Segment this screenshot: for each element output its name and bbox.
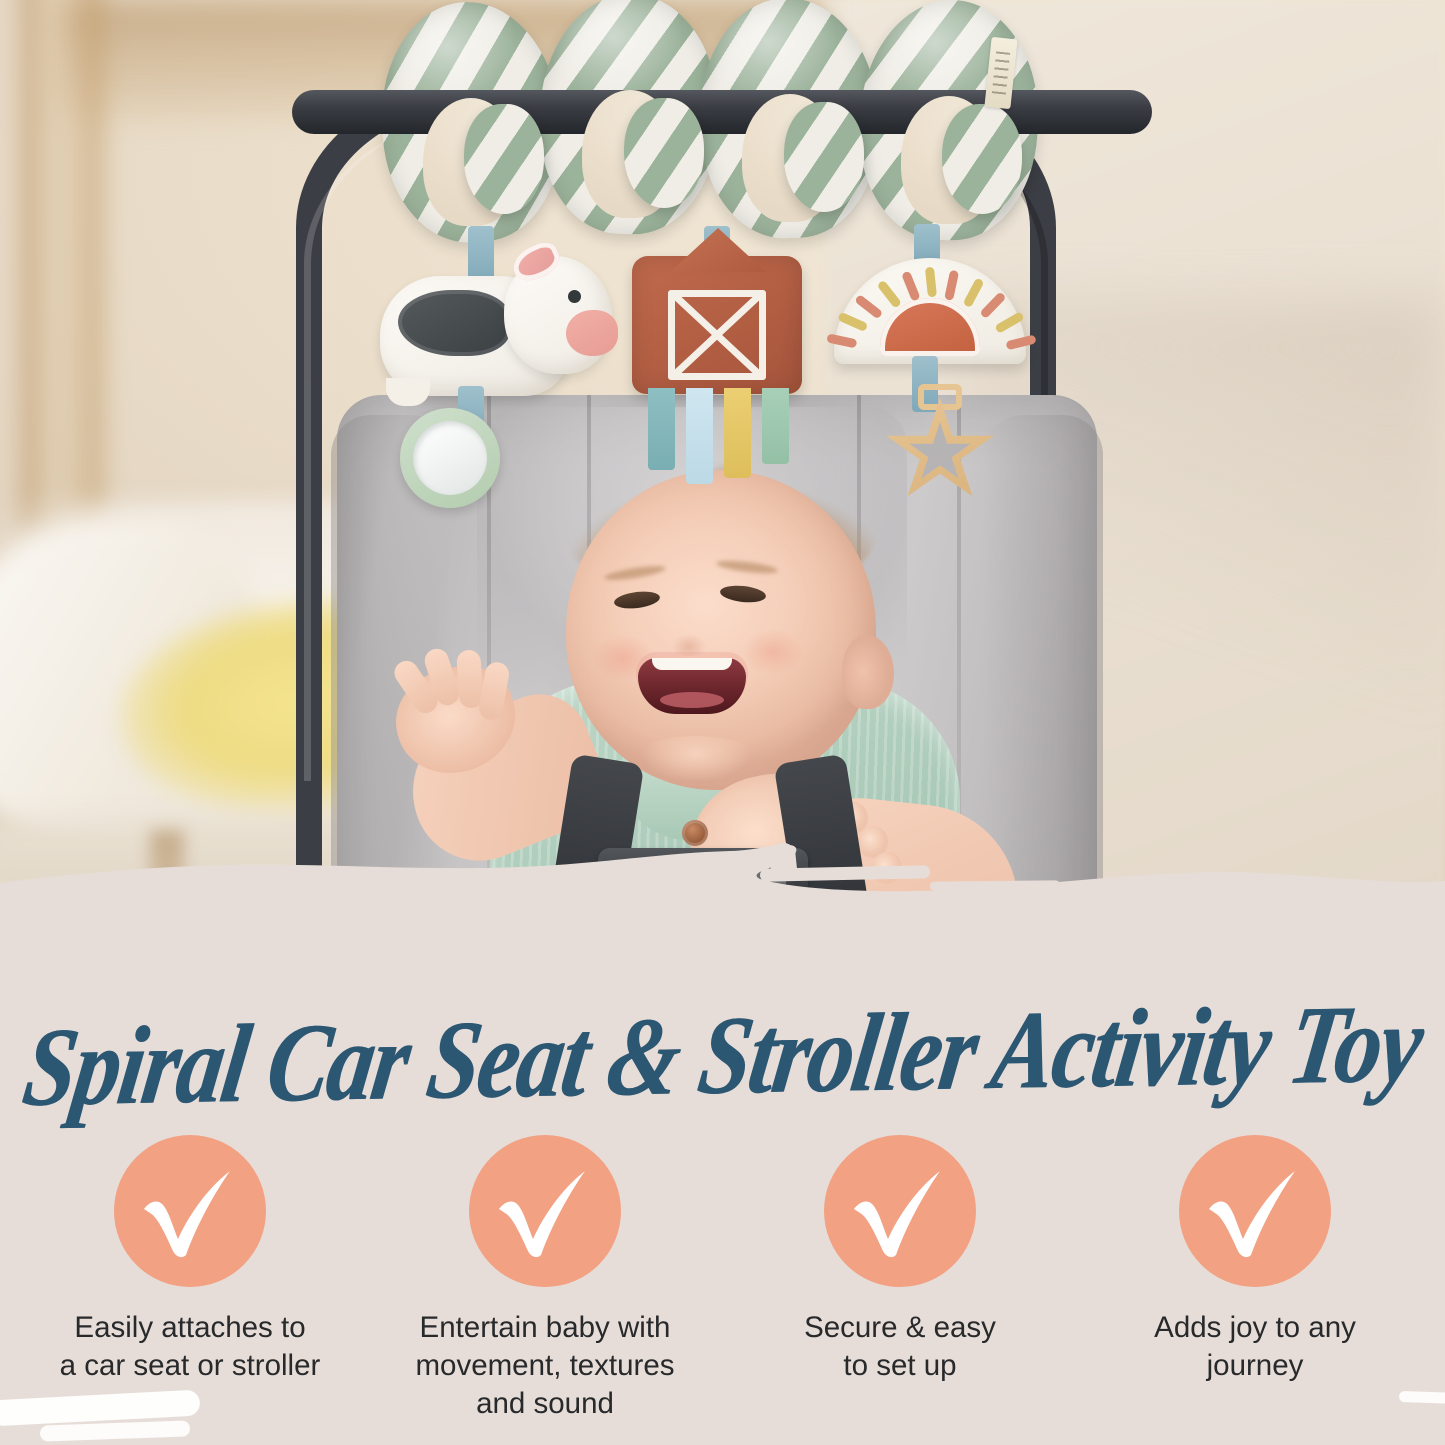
checkmark-icon xyxy=(1205,1165,1305,1259)
spiral-coil-front xyxy=(942,104,1022,214)
cow-snout xyxy=(566,310,618,356)
sun-ray xyxy=(925,267,937,298)
sun-ray xyxy=(876,280,902,309)
baby-nose xyxy=(666,626,712,656)
spiral-activity-toy xyxy=(352,0,1092,244)
feature-item-joy: Adds joy to any journey xyxy=(1078,1135,1433,1385)
barn-ribbon-tag xyxy=(724,388,751,478)
cow-eye xyxy=(568,290,581,303)
torn-paper-edge xyxy=(0,839,1445,959)
spiral-coil-front xyxy=(624,98,704,208)
checkmark-icon xyxy=(495,1165,595,1259)
sun-ray xyxy=(944,270,959,301)
plush-barn-toy xyxy=(620,230,820,490)
sun-ray xyxy=(963,277,985,308)
sun-ray xyxy=(901,270,921,301)
feature-label: Secure & easy to set up xyxy=(804,1309,996,1385)
spiral-coil-front xyxy=(784,102,864,212)
barn-ribbon-tag xyxy=(648,388,675,470)
checkmark-badge xyxy=(1179,1135,1331,1287)
checkmark-badge xyxy=(114,1135,266,1287)
checkmark-badge xyxy=(824,1135,976,1287)
sun-ray xyxy=(1005,334,1036,350)
headline: Spiral Car Seat & Stroller Activity Toy xyxy=(16,978,1429,1132)
feature-label: Easily attaches to a car seat or strolle… xyxy=(60,1309,321,1385)
sun-ray xyxy=(979,291,1006,319)
product-photo xyxy=(0,0,1445,960)
barn-roof xyxy=(670,228,766,272)
sun-ray xyxy=(826,333,857,348)
brush-flick xyxy=(930,880,1060,890)
baby-mirror-ring xyxy=(400,408,500,508)
feature-list: Easily attaches to a car seat or strolle… xyxy=(0,1135,1445,1435)
headline-container: Spiral Car Seat & Stroller Activity Toy xyxy=(0,1000,1445,1110)
infographic-canvas: Spiral Car Seat & Stroller Activity Toy … xyxy=(0,0,1445,1445)
baby-ear xyxy=(842,635,894,709)
feature-item-entertains: Entertain baby with movement, textures a… xyxy=(368,1135,723,1422)
barn-ribbon-tag xyxy=(686,388,713,484)
feature-label: Entertain baby with movement, textures a… xyxy=(415,1309,674,1422)
checkmark-icon xyxy=(850,1165,950,1259)
baby-mirror-glass xyxy=(413,421,487,495)
handle-bar-crossing xyxy=(292,90,1152,134)
checkmark-icon xyxy=(140,1165,240,1259)
background-wood-frame xyxy=(20,0,320,530)
sun-ray xyxy=(994,311,1024,334)
plush-cow-toy xyxy=(372,228,622,498)
checkmark-badge xyxy=(469,1135,621,1287)
feature-item-attaches: Easily attaches to a car seat or strolle… xyxy=(13,1135,368,1385)
spiral-coil-front xyxy=(464,104,544,214)
cow-leg xyxy=(386,378,430,406)
feature-label: Adds joy to any journey xyxy=(1154,1309,1356,1385)
plush-sun-toy xyxy=(822,226,1052,526)
cow-spot xyxy=(398,290,510,356)
baby-mouth xyxy=(638,658,746,714)
barn-door-icon xyxy=(668,290,766,380)
sun-ray xyxy=(854,294,883,320)
barn-ribbon-tag xyxy=(762,388,789,464)
feature-item-secure: Secure & easy to set up xyxy=(723,1135,1078,1385)
sun-ray xyxy=(837,312,868,332)
